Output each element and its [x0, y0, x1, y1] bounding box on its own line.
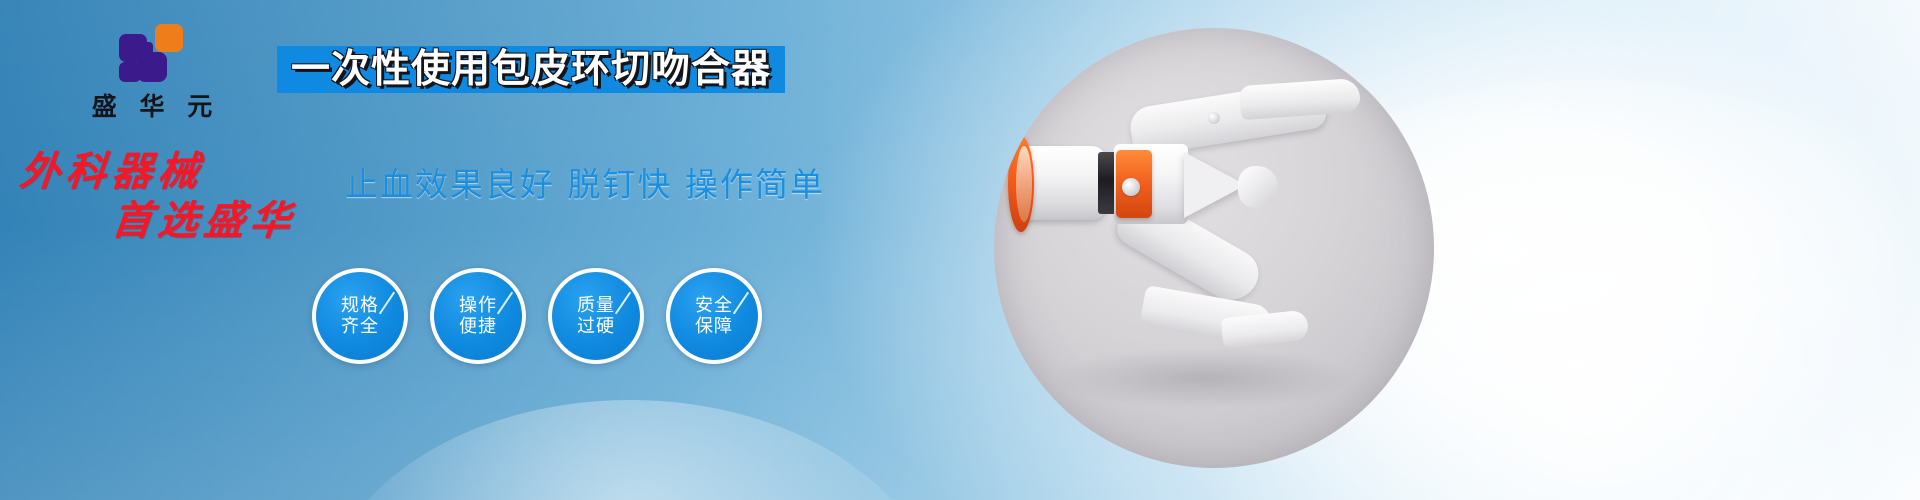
feature-badge-safety[interactable]: 安全 保障 [666, 268, 762, 364]
slash-icon [615, 292, 631, 315]
badge-label-line2: 过硬 [577, 316, 615, 337]
feature-badge-operation[interactable]: 操作 便捷 [430, 268, 526, 364]
product-photo [994, 28, 1434, 468]
shenghuayuan-logo-mark-icon [119, 24, 185, 88]
stapler-cap-inner [1016, 146, 1032, 222]
brand-logo[interactable]: 盛 华 元 [62, 24, 242, 119]
calligraphy-slogan: 外科器械 首选盛华 [20, 150, 350, 242]
calligraphy-line-2: 首选盛华 [110, 199, 353, 242]
feature-badge-list: 规格 齐全 操作 便捷 质量 过硬 安全 保障 [312, 268, 762, 364]
feature-badge-quality[interactable]: 质量 过硬 [548, 268, 644, 364]
badge-label-line2: 齐全 [341, 316, 379, 337]
slash-icon [733, 292, 749, 315]
calligraphy-line-1: 外科器械 [18, 150, 353, 193]
product-shadow [1054, 348, 1354, 408]
stapler-cone [1184, 152, 1246, 218]
slash-icon [497, 292, 513, 315]
badge-label-line1: 操作 [459, 295, 497, 316]
stapler-handle-end [1238, 166, 1278, 208]
slash-icon [379, 292, 395, 315]
product-promo-banner: 盛 华 元 外科器械 首选盛华 一次性使用包皮环切吻合器 止血效果良好 脱钉快 … [0, 0, 1920, 500]
logo-shape-d [139, 42, 153, 56]
stapler-pivot [1122, 178, 1140, 196]
logo-shape-b [137, 52, 167, 82]
product-title-bar: 一次性使用包皮环切吻合器 [277, 46, 785, 93]
badge-label-line1: 规格 [341, 295, 379, 316]
brand-name: 盛 华 元 [62, 94, 242, 119]
logo-shape-c [155, 24, 183, 52]
logo-shape-e [119, 62, 141, 82]
feature-badge-specs[interactable]: 规格 齐全 [312, 268, 408, 364]
stapler-hinge [1208, 112, 1220, 124]
product-title: 一次性使用包皮环切吻合器 [291, 50, 771, 89]
background-arc [320, 400, 940, 500]
badge-label-line1: 质量 [577, 295, 615, 316]
product-subtitle: 止血效果良好 脱钉快 操作简单 [345, 168, 825, 201]
badge-label-line2: 便捷 [459, 316, 497, 337]
badge-label-line2: 保障 [695, 316, 733, 337]
stapler-upper-arm-tip [1239, 78, 1361, 120]
badge-label-line1: 安全 [695, 295, 733, 316]
